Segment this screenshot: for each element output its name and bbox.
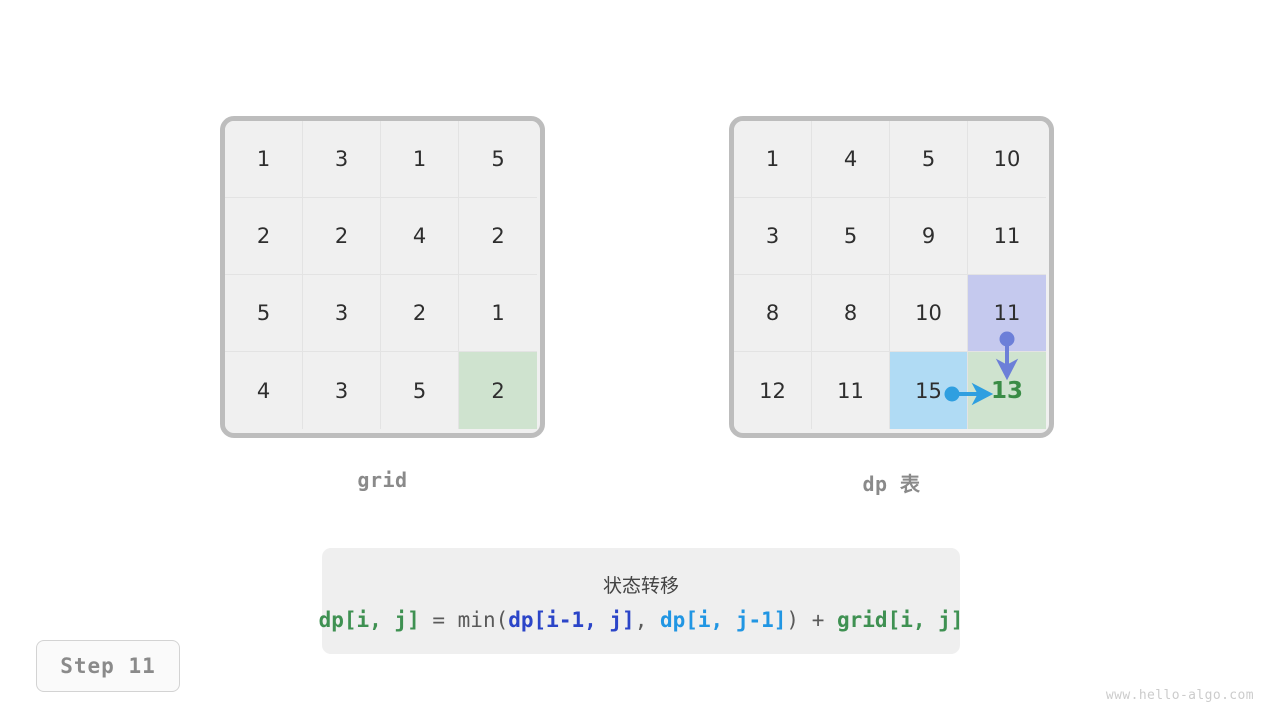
dp-cell-1-0: 3: [734, 198, 812, 275]
formula-token-5: ) +: [786, 608, 837, 632]
dp-cell-2-2: 10: [890, 275, 968, 352]
grid-cell-0-3: 5: [459, 121, 537, 198]
grid-cell-2-0: 5: [225, 275, 303, 352]
dp-cell-0-0: 1: [734, 121, 812, 198]
dp-matrix: 145103591188101112111513: [729, 116, 1054, 438]
grid-cell-0-1: 3: [303, 121, 381, 198]
dp-cell-0-1: 4: [812, 121, 890, 198]
grid-cell-3-3: 2: [459, 352, 537, 429]
grid-cell-3-1: 3: [303, 352, 381, 429]
grid-cell-1-2: 4: [381, 198, 459, 275]
dp-cell-3-1: 11: [812, 352, 890, 429]
grid-caption: grid: [220, 468, 545, 492]
state-transition-box: 状态转移 dp[i, j] = min(dp[i-1, j], dp[i, j-…: [322, 548, 960, 654]
formula-token-2: dp[i-1, j]: [508, 608, 634, 632]
grid-cell-2-1: 3: [303, 275, 381, 352]
dp-cell-1-1: 5: [812, 198, 890, 275]
dp-cell-0-2: 5: [890, 121, 968, 198]
state-transition-formula: dp[i, j] = min(dp[i-1, j], dp[i, j-1]) +…: [319, 608, 964, 632]
grid-matrix: 1315224253214352: [220, 116, 545, 438]
grid-cell-0-0: 1: [225, 121, 303, 198]
dp-matrix-panel: 145103591188101112111513: [729, 116, 1054, 438]
dp-cell-3-2: 15: [890, 352, 968, 429]
watermark: www.hello-algo.com: [1106, 688, 1254, 703]
dp-cell-3-3: 13: [968, 352, 1046, 429]
dp-cell-0-3: 10: [968, 121, 1046, 198]
state-transition-title: 状态转移: [603, 571, 679, 598]
formula-token-6: grid[i, j]: [837, 608, 963, 632]
grid-cell-0-2: 1: [381, 121, 459, 198]
grid-cell-1-3: 2: [459, 198, 537, 275]
grid-cell-3-2: 5: [381, 352, 459, 429]
dp-cell-1-3: 11: [968, 198, 1046, 275]
grid-cell-2-3: 1: [459, 275, 537, 352]
dp-cell-2-3: 11: [968, 275, 1046, 352]
dp-cell-1-2: 9: [890, 198, 968, 275]
formula-token-4: dp[i, j-1]: [660, 608, 786, 632]
formula-token-0: dp[i, j]: [319, 608, 420, 632]
step-badge: Step 11: [36, 640, 180, 692]
grid-cell-1-0: 2: [225, 198, 303, 275]
formula-token-1: = min(: [420, 608, 509, 632]
formula-token-3: ,: [635, 608, 660, 632]
grid-matrix-panel: 1315224253214352: [220, 116, 545, 438]
dp-cell-2-0: 8: [734, 275, 812, 352]
dp-cell-2-1: 8: [812, 275, 890, 352]
step-badge-label: Step 11: [60, 654, 156, 678]
grid-cell-1-1: 2: [303, 198, 381, 275]
grid-cell-3-0: 4: [225, 352, 303, 429]
dp-cell-3-0: 12: [734, 352, 812, 429]
dp-caption: dp 表: [729, 468, 1054, 497]
grid-cell-2-2: 2: [381, 275, 459, 352]
